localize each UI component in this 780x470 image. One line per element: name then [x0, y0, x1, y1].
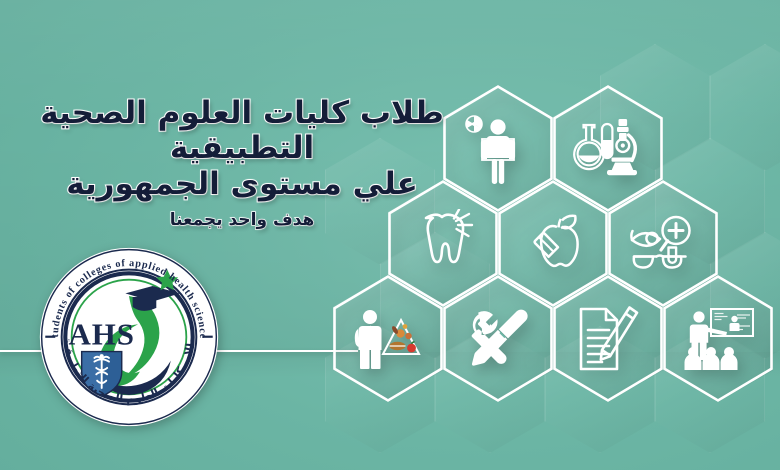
- banner-canvas: طلاب كليات العلوم الصحية التطبيقية علي م…: [0, 0, 780, 470]
- logo-initials: AHS: [69, 316, 135, 351]
- ahs-logo[interactable]: AHS Students of colleges: [38, 246, 220, 428]
- ahs-logo-graphic: AHS Students of colleges: [38, 246, 220, 428]
